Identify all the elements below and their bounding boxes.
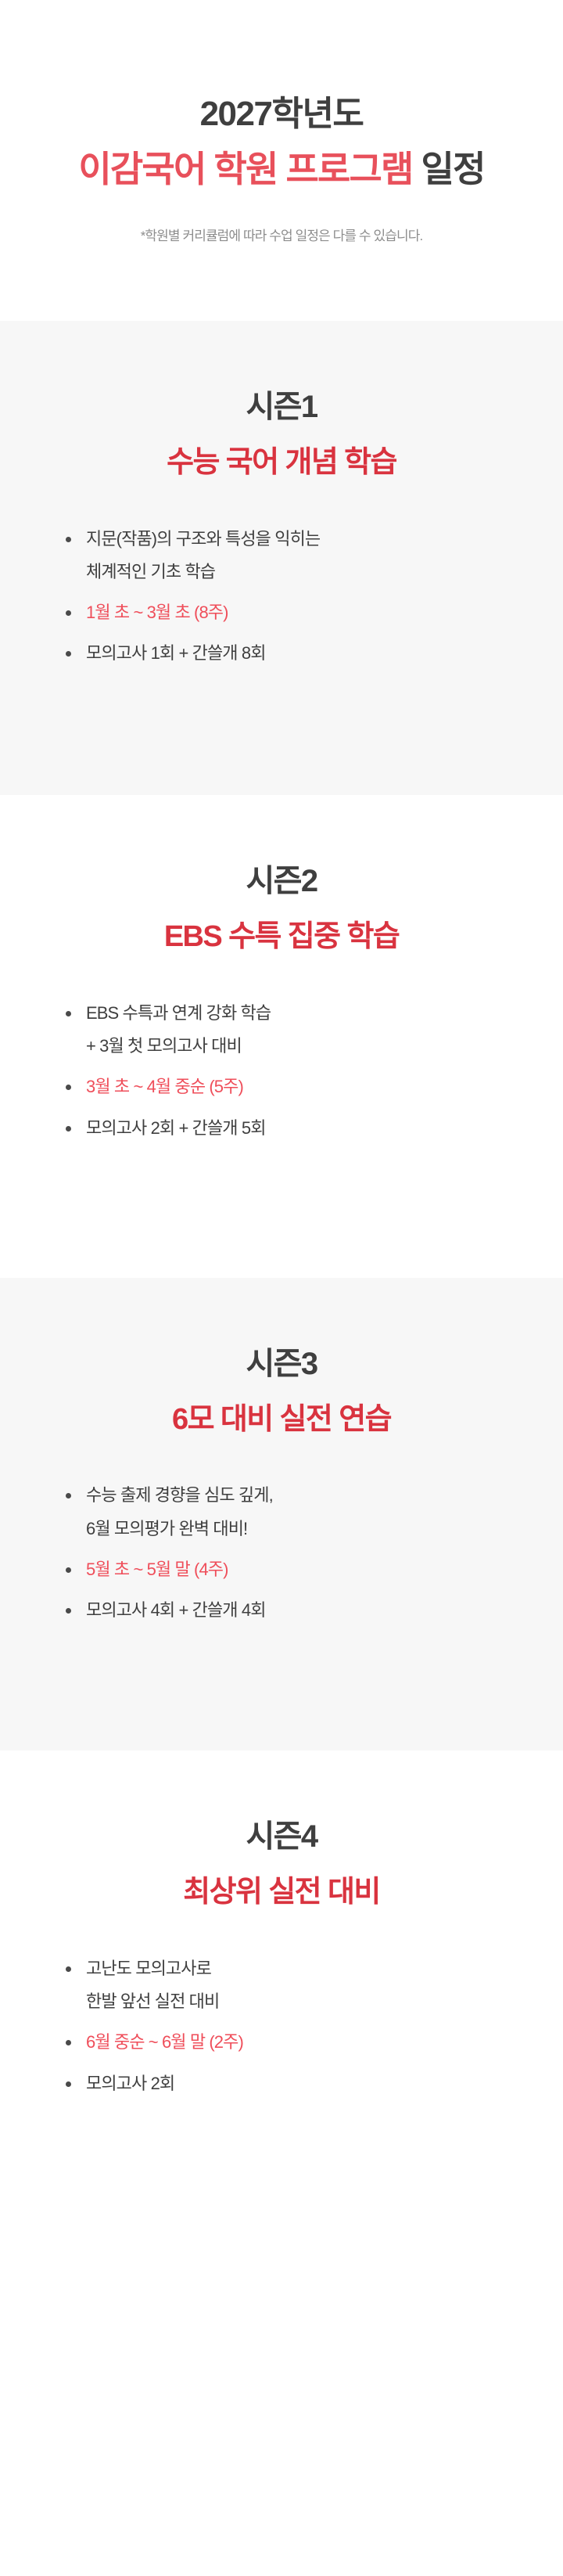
bullet-test-count-3: 모의고사 4회 + 간쓸개 4회 bbox=[66, 1594, 563, 1627]
bullet-description-line2-3: 6월 모의평가 완벽 대비! bbox=[86, 1513, 563, 1545]
bullet-description-line1-4: 고난도 모의고사로 bbox=[86, 1959, 211, 1978]
season-number-2: 시즌2 bbox=[0, 862, 563, 900]
bullet-date-range-3: 5월 초 ~ 5월 말 (4주) bbox=[66, 1553, 563, 1586]
season-bullet-list-2: EBS 수특과 연계 강화 학습 + 3월 첫 모의고사 대비 3월 초 ~ 4… bbox=[0, 997, 563, 1145]
bullet-date-range-2: 3월 초 ~ 4월 중순 (5주) bbox=[66, 1070, 563, 1103]
page-title-suffix: 일정 bbox=[421, 149, 485, 189]
season-title-2: EBS 수특 집중 학습 bbox=[0, 919, 563, 956]
season-bullet-list-3: 수능 출제 경향을 심도 깊게, 6월 모의평가 완벽 대비! 5월 초 ~ 5… bbox=[0, 1479, 563, 1627]
season-number-3: 시즌3 bbox=[0, 1345, 563, 1383]
season-bullet-list-1: 지문(작품)의 구조와 특성을 익히는 체계적인 기초 학습 1월 초 ~ 3월… bbox=[0, 523, 563, 671]
bullet-description-line2-4: 한발 앞선 실전 대비 bbox=[86, 1985, 563, 2018]
season-section-4: 시즌4 최상위 실전 대비 고난도 모의고사로 한발 앞선 실전 대비 6월 중… bbox=[0, 1750, 563, 2232]
season-title-1: 수능 국어 개념 학습 bbox=[0, 444, 563, 482]
season-title-4: 최상위 실전 대비 bbox=[0, 1874, 563, 1912]
season-title-3: 6모 대비 실전 연습 bbox=[0, 1401, 563, 1439]
bullet-description-4: 고난도 모의고사로 한발 앞선 실전 대비 bbox=[66, 1952, 563, 2018]
season-section-2: 시즌2 EBS 수특 집중 학습 EBS 수특과 연계 강화 학습 + 3월 첫… bbox=[0, 795, 563, 1277]
page-header: 2027학년도 이감국어 학원 프로그램 일정 *학원별 커리큘럼에 따라 수업… bbox=[0, 0, 563, 321]
disclaimer-note: *학원별 커리큘럼에 따라 수업 일정은 다를 수 있습니다. bbox=[0, 225, 563, 244]
season-number-1: 시즌1 bbox=[0, 388, 563, 426]
season-section-1: 시즌1 수능 국어 개념 학습 지문(작품)의 구조와 특성을 익히는 체계적인… bbox=[0, 321, 563, 795]
page-title-accent: 이감국어 학원 프로그램 bbox=[78, 149, 412, 189]
bullet-description-line1-3: 수능 출제 경향을 심도 깊게, bbox=[86, 1485, 273, 1505]
bullet-description-1: 지문(작품)의 구조와 특성을 익히는 체계적인 기초 학습 bbox=[66, 523, 563, 588]
bullet-description-2: EBS 수특과 연계 강화 학습 + 3월 첫 모의고사 대비 bbox=[66, 997, 563, 1063]
bullet-description-line1-2: EBS 수특과 연계 강화 학습 bbox=[86, 1003, 271, 1023]
bullet-description-line1-1: 지문(작품)의 구조와 특성을 익히는 bbox=[86, 529, 320, 549]
bullet-description-3: 수능 출제 경향을 심도 깊게, 6월 모의평가 완벽 대비! bbox=[66, 1479, 563, 1545]
academic-year-title: 2027학년도 bbox=[0, 92, 563, 135]
bullet-date-range-1: 1월 초 ~ 3월 초 (8주) bbox=[66, 596, 563, 629]
bullet-test-count-1: 모의고사 1회 + 간쓸개 8회 bbox=[66, 637, 563, 670]
season-number-4: 시즌4 bbox=[0, 1818, 563, 1855]
bullet-description-line2-2: + 3월 첫 모의고사 대비 bbox=[86, 1030, 563, 1063]
season-section-3: 시즌3 6모 대비 실전 연습 수능 출제 경향을 심도 깊게, 6월 모의평가… bbox=[0, 1278, 563, 1750]
bullet-test-count-4: 모의고사 2회 bbox=[66, 2067, 563, 2100]
page-title: 이감국어 학원 프로그램 일정 bbox=[0, 146, 563, 193]
bullet-test-count-2: 모의고사 2회 + 간쓸개 5회 bbox=[66, 1112, 563, 1145]
bullet-date-range-4: 6월 중순 ~ 6월 말 (2주) bbox=[66, 2026, 563, 2059]
program-schedule-page: 2027학년도 이감국어 학원 프로그램 일정 *학원별 커리큘럼에 따라 수업… bbox=[0, 0, 563, 2576]
bullet-description-line2-1: 체계적인 기초 학습 bbox=[86, 556, 563, 588]
season-bullet-list-4: 고난도 모의고사로 한발 앞선 실전 대비 6월 중순 ~ 6월 말 (2주) … bbox=[0, 1952, 563, 2100]
